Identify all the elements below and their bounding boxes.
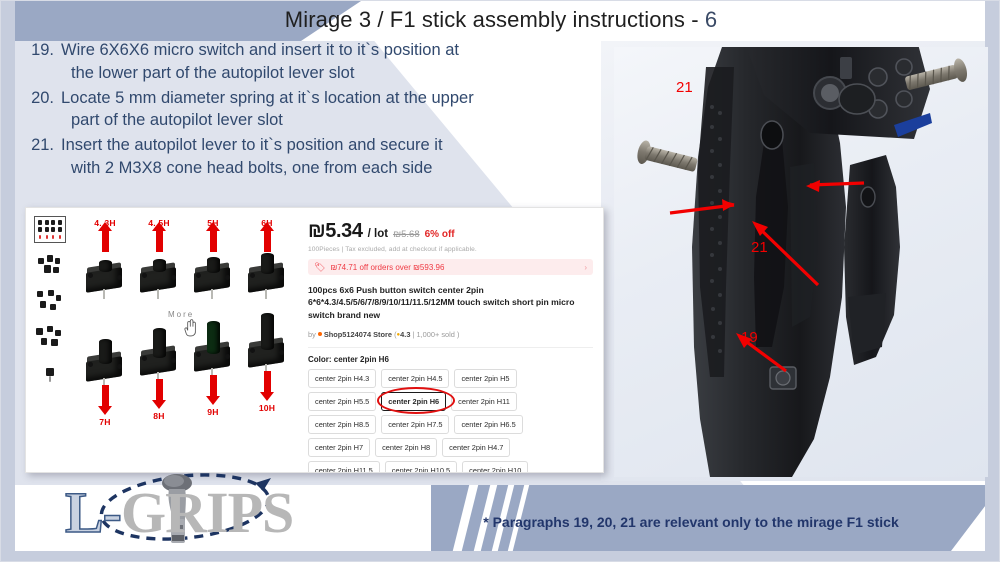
variant-option[interactable]: center 2pin H10 — [462, 461, 528, 473]
product-listing-screenshot: 4. 3H 4. 5H — [25, 207, 604, 473]
product-gallery: 4. 3H 4. 5H — [26, 208, 300, 472]
switch-photo — [244, 254, 290, 294]
variant-label: Color: center 2pin H6 — [308, 355, 593, 364]
cad-render-svg — [614, 47, 988, 477]
logo-text-part2: GRIPS — [121, 480, 293, 545]
matrix-cell: 7H — [78, 342, 132, 427]
hand-cursor-icon — [183, 318, 198, 337]
variant-option[interactable]: center 2pin H6.5 — [454, 415, 522, 434]
cad-illustration: 21 21 19 — [614, 47, 988, 477]
step-text: Wire 6X6X6 micro switch and insert it to… — [61, 39, 567, 85]
switch-label-bottom-4: 10H — [240, 403, 294, 413]
step-line-1: Insert the autopilot lever to it`s posit… — [61, 136, 443, 154]
up-arrow-icon — [210, 230, 217, 252]
footnote-text: * Paragraphs 19, 20, 21 are relevant onl… — [431, 514, 951, 530]
page-title-text: Mirage 3 / F1 stick assembly instruction… — [285, 7, 705, 32]
list-item: 21. Insert the autopilot lever to it`s p… — [27, 134, 567, 180]
step-index: 21. — [27, 134, 61, 180]
switch-single-icon — [34, 360, 66, 387]
step-line-2: with 2 M3X8 cone head bolts, one from ea… — [61, 157, 567, 180]
promo-text: ₪74.71 off orders over ₪593.96 — [330, 263, 444, 272]
step-text: Locate 5 mm diameter spring at it`s loca… — [61, 87, 567, 133]
switch-photo — [136, 337, 182, 377]
switch-photo — [82, 343, 128, 383]
step-index: 20. — [27, 87, 61, 133]
matrix-cell: 6H — [240, 218, 294, 295]
switch-size-matrix: 4. 3H 4. 5H — [78, 214, 296, 464]
switch-cluster-icon — [34, 252, 66, 279]
slide-border-bottom — [1, 551, 1000, 561]
step-text: Insert the autopilot lever to it`s posit… — [61, 134, 567, 180]
variant-option[interactable]: center 2pin H11 — [451, 392, 517, 411]
switch-photo — [136, 254, 182, 294]
price-unit: / lot — [368, 228, 388, 240]
matrix-cell: 9H — [186, 332, 240, 417]
store-name[interactable]: Shop5124074 Store — [324, 330, 392, 339]
step-index: 19. — [27, 39, 61, 85]
switch-label-bottom-2: 8H — [132, 411, 186, 421]
price-subnote: 100Pieces | Tax excluded, add at checkou… — [308, 246, 593, 253]
page-title-number: 6 — [705, 7, 717, 32]
step-line-2: the lower part of the autopilot lever sl… — [61, 62, 567, 85]
switch-photo — [82, 254, 128, 294]
variant-option[interactable]: center 2pin H5 — [454, 369, 516, 388]
promo-banner[interactable]: 🏷 ₪74.71 off orders over ₪593.96 › — [308, 259, 593, 275]
step-line-2: part of the autopilot lever slot — [61, 109, 567, 132]
paren-close: ) — [457, 330, 459, 339]
price-block: ₪5.34 / lot ₪5.68 6% off — [308, 220, 593, 243]
up-arrow-icon — [102, 230, 109, 252]
matrix-cell: 8H — [132, 336, 186, 421]
matrix-cell: 4. 3H — [78, 218, 132, 295]
switch-cluster-icon — [34, 324, 66, 351]
store-avatar-icon — [318, 332, 322, 336]
product-title: 100pcs 6x6 Push button switch center 2pi… — [308, 284, 593, 321]
coupon-icon: 🏷 — [314, 262, 325, 273]
currency-symbol: ₪ — [308, 220, 325, 242]
thumbnail-item[interactable] — [34, 360, 66, 387]
switch-label-bottom-1: 7H — [78, 417, 132, 427]
down-arrow-icon — [102, 385, 109, 407]
instruction-list: 19. Wire 6X6X6 micro switch and insert i… — [27, 39, 567, 182]
cad-annotation-21-mid: 21 — [751, 239, 768, 256]
variant-option[interactable]: center 2pin H4.5 — [381, 369, 449, 388]
down-arrow-icon — [156, 379, 163, 401]
switch-photo — [244, 329, 290, 369]
variant-option[interactable]: center 2pin H5.5 — [308, 392, 376, 411]
list-item: 20. Locate 5 mm diameter spring at it`s … — [27, 87, 567, 133]
presentation-slide: Mirage 3 / F1 stick assembly instruction… — [0, 0, 1000, 562]
section-divider — [308, 347, 593, 348]
switch-label-bottom-3: 9H — [186, 407, 240, 417]
thumbnail-grid-icon — [37, 219, 63, 240]
original-price: ₪5.68 — [393, 229, 420, 240]
switch-photo — [190, 333, 236, 373]
variant-option-selected-wrap[interactable]: center 2pin H6 — [381, 392, 446, 411]
thumbnail-rail[interactable] — [34, 216, 68, 396]
matrix-cell: 10H — [240, 328, 294, 413]
up-arrow-icon — [156, 230, 163, 252]
page-title: Mirage 3 / F1 stick assembly instruction… — [1, 7, 1000, 33]
list-item: 19. Wire 6X6X6 micro switch and insert i… — [27, 39, 567, 85]
store-line: byShop5124074 Store (●4.3 | 1,000+ sold … — [308, 330, 593, 339]
up-arrow-icon — [264, 230, 271, 252]
matrix-cell: 4. 5H — [132, 218, 186, 295]
variant-option[interactable]: center 2pin H4.3 — [308, 369, 376, 388]
down-arrow-icon — [264, 371, 271, 393]
store-rating: 4.3 — [400, 330, 410, 339]
down-arrow-icon — [210, 375, 217, 397]
thumbnail-item[interactable] — [34, 252, 66, 279]
cad-annotation-21-top: 21 — [676, 79, 693, 96]
price-value: ₪5.34 — [308, 220, 363, 243]
switch-photo — [190, 254, 236, 294]
store-prefix: by — [308, 330, 316, 339]
thumbnail-item[interactable] — [34, 216, 66, 243]
brand-logo: L-GRIPS — [59, 469, 359, 547]
store-sold: | 1,000+ sold — [413, 330, 455, 339]
step-line-1: Locate 5 mm diameter spring at it`s loca… — [61, 89, 474, 107]
variant-option[interactable]: center 2pin H10.5 — [385, 461, 457, 473]
product-details: ₪5.34 / lot ₪5.68 6% off 100Pieces | Tax… — [300, 208, 603, 472]
cad-annotation-19: 19 — [741, 329, 758, 346]
variant-option[interactable]: center 2pin H7.5 — [381, 415, 449, 434]
variant-options[interactable]: center 2pin H4.3 center 2pin H4.5 center… — [308, 369, 580, 473]
slide-border-left — [1, 1, 15, 562]
step-line-1: Wire 6X6X6 micro switch and insert it to… — [61, 41, 459, 59]
variant-option[interactable]: center 2pin H8 — [375, 438, 437, 457]
price-amount: 5.34 — [325, 220, 362, 242]
chevron-right-icon[interactable]: › — [584, 263, 587, 272]
logo-text-part1: L- — [65, 480, 121, 545]
variant-option[interactable]: center 2pin H7 — [308, 438, 370, 457]
variant-option[interactable]: center 2pin H4.7 — [442, 438, 510, 457]
discount-badge: 6% off — [425, 229, 455, 240]
variant-option-selected[interactable]: center 2pin H6 — [381, 392, 446, 411]
logo-text: L-GRIPS — [65, 479, 293, 546]
thumbnail-item[interactable] — [34, 288, 66, 315]
variant-option[interactable]: center 2pin H8.5 — [308, 415, 376, 434]
switch-cluster-icon — [34, 288, 66, 315]
thumbnail-item[interactable] — [34, 324, 66, 351]
matrix-cell: 5H — [186, 218, 240, 295]
